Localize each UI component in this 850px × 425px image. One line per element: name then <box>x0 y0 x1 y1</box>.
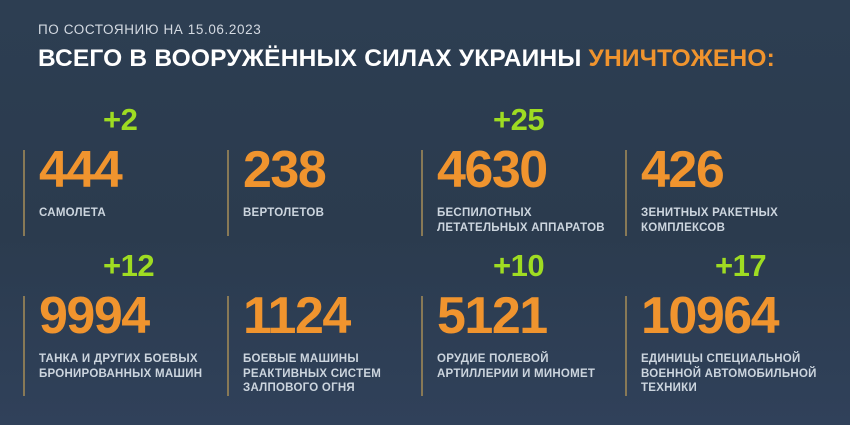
stat-label: ВЕРТОЛЕТОВ <box>243 206 415 221</box>
stat-label: ЕДИНИЦЫ СПЕЦИАЛЬНОЙ ВОЕННОЙ АВТОМОБИЛЬНО… <box>641 352 825 396</box>
cell-divider <box>421 150 423 236</box>
stat-label: БОЕВЫЕ МАШИНЫ РЕАКТИВНЫХ СИСТЕМ ЗАЛПОВОГ… <box>243 352 415 396</box>
stat-label-line: БОЕВЫЕ МАШИНЫ <box>243 352 415 367</box>
stat-delta: +25 <box>493 104 544 135</box>
stat-delta: +12 <box>103 250 154 281</box>
stat-cell-uav: +25 4630 БЕСПИЛОТНЫХ ЛЕТАТЕЛЬНЫХ АППАРАТ… <box>421 104 625 250</box>
stat-label-line: РЕАКТИВНЫХ СИСТЕМ <box>243 367 415 382</box>
header: ПО СОСТОЯНИЮ НА 15.06.2023 ВСЕГО В ВООРУ… <box>38 22 826 72</box>
stats-row: +12 9994 ТАНКА И ДРУГИХ БОЕВЫХ БРОНИРОВА… <box>0 250 850 410</box>
stat-delta: +2 <box>103 104 137 135</box>
stat-label-line: БРОНИРОВАННЫХ МАШИН <box>39 367 221 382</box>
stats-row: +2 444 САМОЛЕТА 238 ВЕРТОЛЕТОВ +25 4630 <box>0 104 850 250</box>
stat-label-line: ЗАЛПОВОГО ОГНЯ <box>243 381 415 396</box>
stat-cell-helicopters: 238 ВЕРТОЛЕТОВ <box>227 104 421 250</box>
infographic-panel: ПО СОСТОЯНИЮ НА 15.06.2023 ВСЕГО В ВООРУ… <box>0 0 850 425</box>
stat-label-line: ВОЕННОЙ АВТОМОБИЛЬНОЙ <box>641 367 825 382</box>
cell-divider <box>625 296 627 396</box>
stat-value: 4630 <box>437 144 547 196</box>
cell-divider <box>625 150 627 236</box>
stat-label-line: ЛЕТАТЕЛЬНЫХ АППАРАТОВ <box>437 221 619 236</box>
stat-label-line: ЗЕНИТНЫХ РАКЕТНЫХ <box>641 206 825 221</box>
stat-cell-tanks: +12 9994 ТАНКА И ДРУГИХ БОЕВЫХ БРОНИРОВА… <box>23 250 227 410</box>
stat-label: БЕСПИЛОТНЫХ ЛЕТАТЕЛЬНЫХ АППАРАТОВ <box>437 206 619 235</box>
cell-divider <box>227 150 229 236</box>
stat-label-line: КОМПЛЕКСОВ <box>641 221 825 236</box>
stat-cell-artillery: +10 5121 ОРУДИЕ ПОЛЕВОЙ АРТИЛЛЕРИИ И МИН… <box>421 250 625 410</box>
stat-cell-mlrs: 1124 БОЕВЫЕ МАШИНЫ РЕАКТИВНЫХ СИСТЕМ ЗАЛ… <box>227 250 421 410</box>
stat-value: 9994 <box>39 290 149 342</box>
stat-label-line: ОРУДИЕ ПОЛЕВОЙ <box>437 352 619 367</box>
stat-delta: +17 <box>715 250 766 281</box>
stat-label: САМОЛЕТА <box>39 206 221 221</box>
stat-value: 426 <box>641 144 723 196</box>
stat-value: 444 <box>39 144 121 196</box>
stat-cell-aircraft: +2 444 САМОЛЕТА <box>23 104 227 250</box>
stat-label: ЗЕНИТНЫХ РАКЕТНЫХ КОМПЛЕКСОВ <box>641 206 825 235</box>
stat-value: 1124 <box>243 290 350 342</box>
headline-accent: УНИЧТОЖЕНО: <box>589 45 775 72</box>
cell-divider <box>23 150 25 236</box>
stat-cell-military-vehicles: +17 10964 ЕДИНИЦЫ СПЕЦИАЛЬНОЙ ВОЕННОЙ АВ… <box>625 250 831 410</box>
stat-label-line: АРТИЛЛЕРИИ И МИНОМЕТ <box>437 367 619 382</box>
stat-label-line: САМОЛЕТА <box>39 206 221 221</box>
cell-divider <box>421 296 423 396</box>
stats-grid: +2 444 САМОЛЕТА 238 ВЕРТОЛЕТОВ +25 4630 <box>0 104 850 410</box>
headline-main: ВСЕГО В ВООРУЖЁННЫХ СИЛАХ УКРАИНЫ <box>38 45 582 72</box>
stat-value: 5121 <box>437 290 547 342</box>
stat-label: ОРУДИЕ ПОЛЕВОЙ АРТИЛЛЕРИИ И МИНОМЕТ <box>437 352 619 381</box>
as-of-date: ПО СОСТОЯНИЮ НА 15.06.2023 <box>38 22 826 37</box>
stat-label-line: ЕДИНИЦЫ СПЕЦИАЛЬНОЙ <box>641 352 825 367</box>
stat-cell-sam-systems: 426 ЗЕНИТНЫХ РАКЕТНЫХ КОМПЛЕКСОВ <box>625 104 831 250</box>
stat-value: 238 <box>243 144 325 196</box>
stat-value: 10964 <box>641 290 778 342</box>
stat-delta: +10 <box>493 250 544 281</box>
stat-label-line: ТЕХНИКИ <box>641 381 825 396</box>
stat-label: ТАНКА И ДРУГИХ БОЕВЫХ БРОНИРОВАННЫХ МАШИ… <box>39 352 221 381</box>
stat-label-line: БЕСПИЛОТНЫХ <box>437 206 619 221</box>
cell-divider <box>23 296 25 396</box>
cell-divider <box>227 296 229 396</box>
stat-label-line: ВЕРТОЛЕТОВ <box>243 206 415 221</box>
page-title: ВСЕГО В ВООРУЖЁННЫХ СИЛАХ УКРАИНЫ УНИЧТО… <box>38 46 826 72</box>
stat-label-line: ТАНКА И ДРУГИХ БОЕВЫХ <box>39 352 221 367</box>
